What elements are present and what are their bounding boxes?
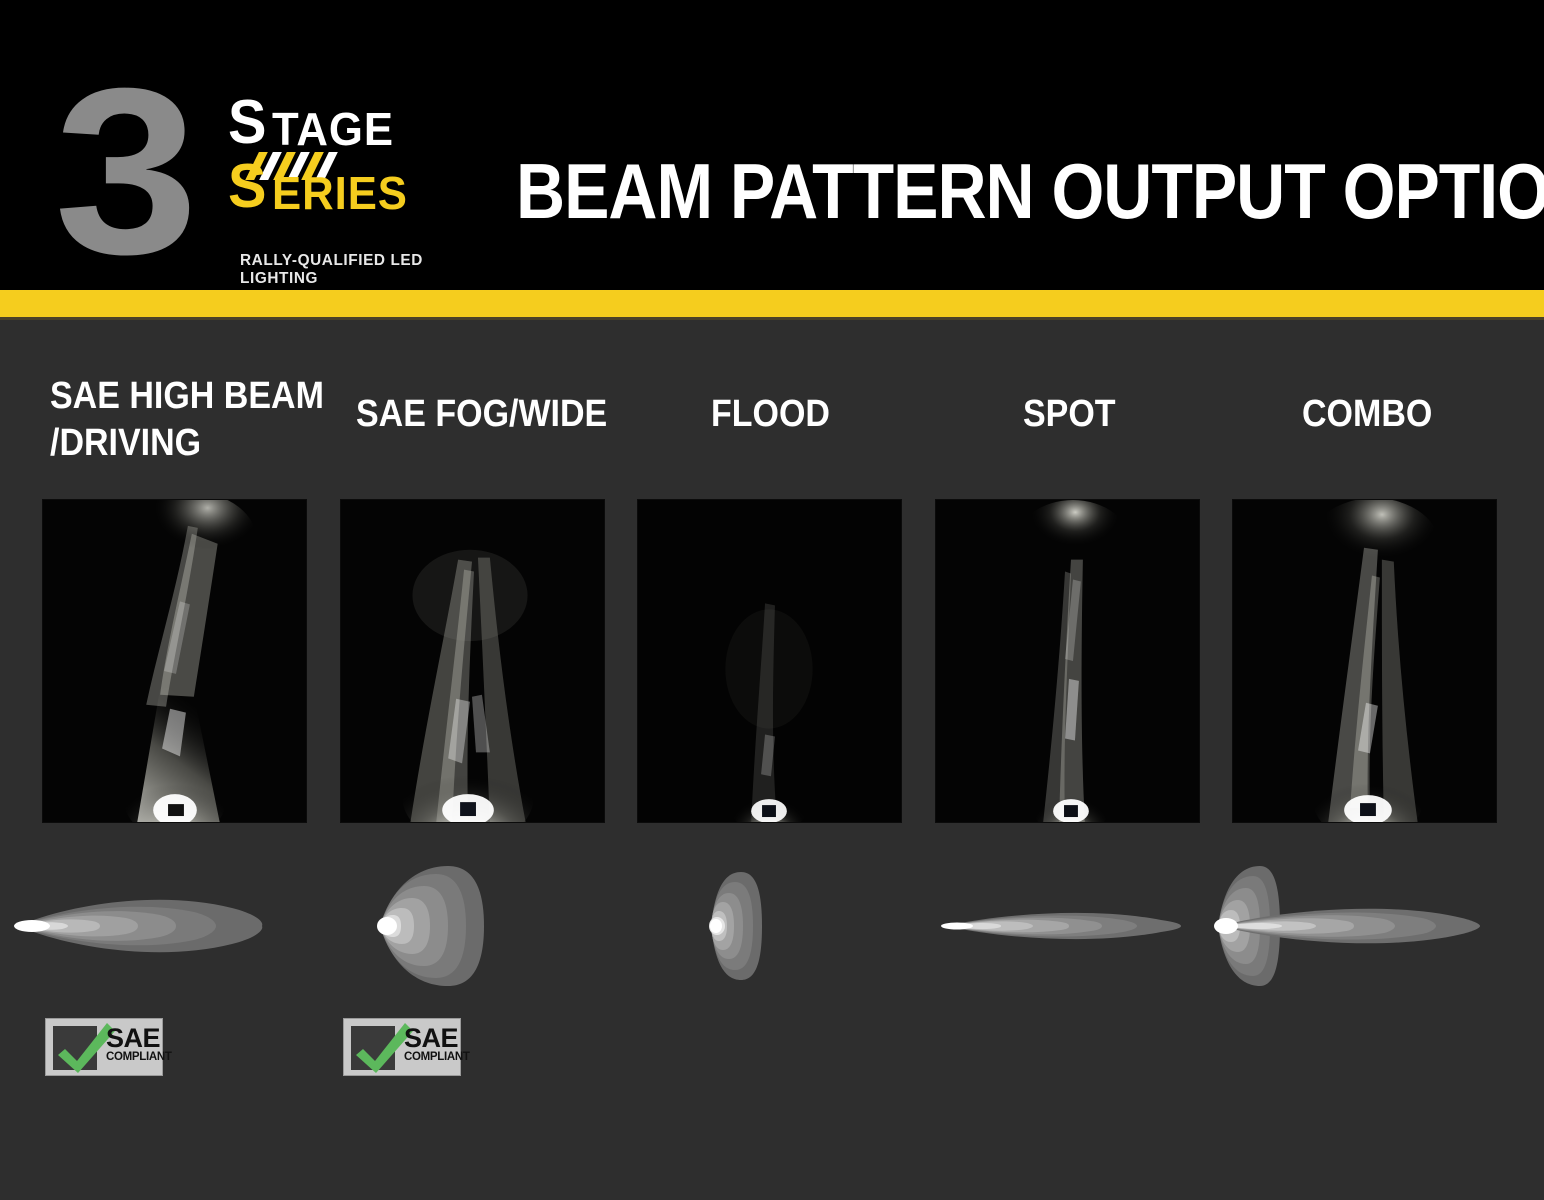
beam-sae-high-beam-driving	[10, 860, 310, 990]
beam-flood	[605, 860, 905, 990]
sae-compliant-badge-2: SAE COMPLIANT	[343, 1018, 461, 1076]
sae-compliant-badge-1: SAE COMPLIANT	[45, 1018, 163, 1076]
logo-word-stage: S TAGE	[228, 96, 488, 158]
badge-text: SAE COMPLIANT	[106, 1025, 162, 1064]
logo-wordmark: S TAGE S ERIES	[228, 96, 488, 222]
beam-spot	[903, 860, 1203, 990]
badge-compliant-label: COMPLIANT	[404, 1051, 460, 1064]
column-label-sae-fog-wide: SAE FOG/WIDE	[356, 390, 636, 437]
beam-combo	[1200, 860, 1500, 990]
photo-spot	[935, 499, 1200, 823]
logo-stage-cap: S	[228, 92, 266, 154]
photo-sae-fog-wide	[340, 499, 605, 823]
column-label-combo: COMBO	[1302, 390, 1544, 437]
photo-combo	[1232, 499, 1497, 823]
logo-stage-rest: TAGE	[272, 106, 394, 152]
photo-flood	[637, 499, 902, 823]
column-label-sae-high-beam-driving: SAE HIGH BEAM/DRIVING	[50, 372, 330, 466]
logo-word-series: S ERIES	[228, 160, 488, 222]
logo-series-cap: S	[228, 156, 266, 218]
page-title: BEAM PATTERN OUTPUT OPTIONS	[516, 152, 1544, 230]
beam-sae-fog-wide	[308, 860, 608, 990]
badge-text: SAE COMPLIANT	[404, 1025, 460, 1064]
column-spot: SPOT	[903, 320, 1203, 1200]
yellow-accent-bar	[0, 290, 1544, 317]
logo-tagline: RALLY-QUALIFIED LED LIGHTING	[240, 252, 478, 288]
header-bar: 3 S TAGE S ERIES RALLY-QUALIFIED	[0, 0, 1544, 290]
logo-series-rest: ERIES	[272, 170, 408, 216]
stage-series-logo: 3 S TAGE S ERIES RALLY-QUALIFIED	[40, 48, 480, 243]
column-sae-high-beam-driving: SAE HIGH BEAM/DRIVING	[10, 320, 310, 1200]
photo-sae-high-beam-driving	[42, 499, 307, 823]
beam-pattern-infographic: 3 S TAGE S ERIES RALLY-QUALIFIED	[0, 0, 1544, 1200]
column-sae-fog-wide: SAE FOG/WIDE	[308, 320, 608, 1200]
column-flood: FLOOD	[605, 320, 905, 1200]
column-combo: COMBO	[1200, 320, 1500, 1200]
logo-numeral-three: 3	[54, 54, 192, 291]
badge-sae-label: SAE	[106, 1025, 162, 1051]
badge-compliant-label: COMPLIANT	[106, 1051, 162, 1064]
badge-sae-label: SAE	[404, 1025, 460, 1051]
